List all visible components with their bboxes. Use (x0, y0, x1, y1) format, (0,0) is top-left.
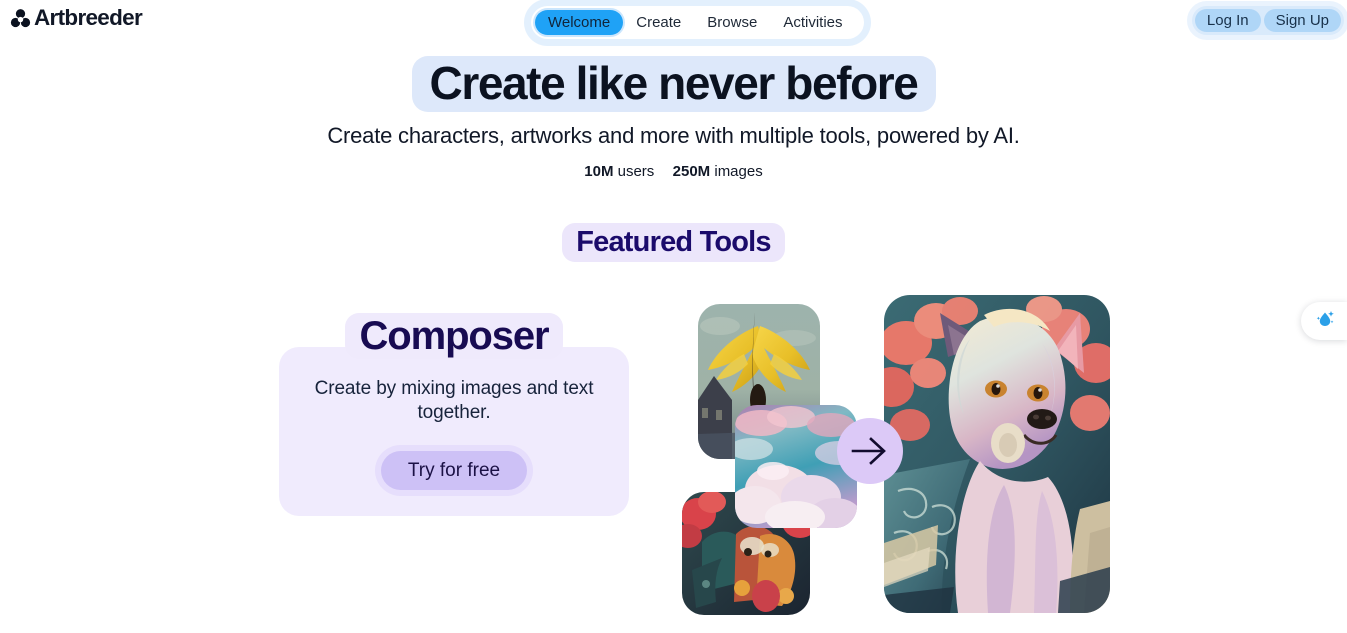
composer-tool-card[interactable]: Composer Create by mixing images and tex… (279, 313, 629, 516)
stat-users-value: 10M (584, 163, 613, 180)
composer-card-body: Create by mixing images and text togethe… (279, 347, 629, 516)
composer-description: Create by mixing images and text togethe… (299, 377, 609, 426)
composer-title-row: Composer (279, 313, 629, 359)
featured-tools-section: Featured Tools (0, 223, 1347, 262)
stat-images-label: images (714, 163, 762, 180)
login-button[interactable]: Log In (1195, 9, 1261, 32)
arrow-right-icon (837, 418, 903, 484)
page-title: Create like never before (412, 56, 936, 112)
hero-subtitle: Create characters, artworks and more wit… (0, 123, 1347, 149)
result-image-fantasy-dog-portrait[interactable] (884, 295, 1110, 613)
brand-logo[interactable]: Artbreeder (10, 7, 142, 30)
featured-tools-title: Featured Tools (562, 223, 785, 262)
hero-stats: 10M users 250M images (0, 163, 1347, 180)
nav-item-activities[interactable]: Activities (770, 10, 855, 35)
hero-section: Create like never before Create characte… (0, 56, 1347, 180)
stat-images-value: 250M (673, 163, 711, 180)
auth-buttons: Log In Sign Up (1192, 6, 1344, 35)
water-drop-sparkle-icon (1312, 307, 1336, 336)
try-for-free-button[interactable]: Try for free (381, 451, 527, 491)
feedback-widget-button[interactable] (1301, 302, 1347, 340)
nav-item-welcome[interactable]: Welcome (535, 10, 623, 35)
main-nav: Welcome Create Browse Activities (531, 6, 864, 39)
composer-title: Composer (345, 313, 562, 359)
signup-button[interactable]: Sign Up (1264, 9, 1341, 32)
composer-showcase (680, 290, 1120, 615)
nav-item-browse[interactable]: Browse (694, 10, 770, 35)
source-image-pastel-clouds[interactable] (735, 405, 857, 528)
nav-item-create[interactable]: Create (623, 10, 694, 35)
stat-users-label: users (618, 163, 655, 180)
top-header: Artbreeder Welcome Create Browse Activit… (0, 0, 1347, 48)
trefoil-icon (10, 8, 31, 29)
brand-name: Artbreeder (34, 7, 142, 30)
